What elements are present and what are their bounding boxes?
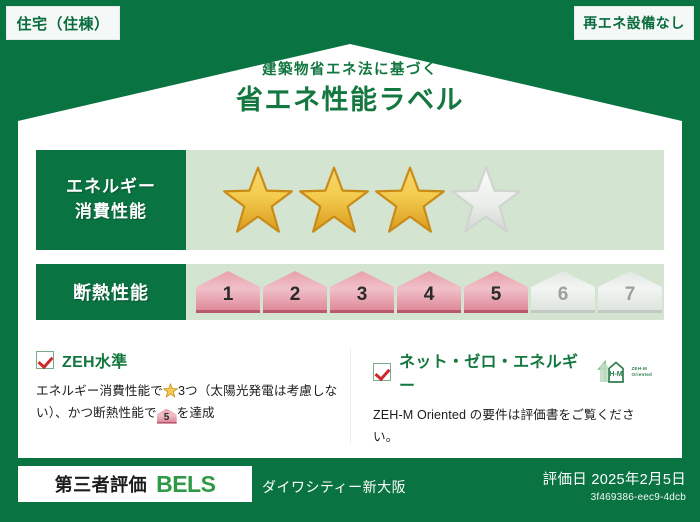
- energy-performance-label: 住宅（住棟） 再エネ設備なし 建築物省エネ法に基づく 省エネ性能ラベル エネルギ…: [0, 0, 700, 522]
- note-zeh-body: エネルギー消費性能で3つ（太陽光発電は考慮しない）、かつ断熱性能で5を達成: [36, 381, 338, 424]
- grade-house-5: 5: [464, 271, 528, 313]
- row-energy-label-line1: エネルギー: [66, 175, 156, 200]
- note-zeh-standard: ZEH水準 エネルギー消費性能で3つ（太陽光発電は考慮しない）、かつ断熱性能で5…: [36, 348, 350, 444]
- zeh-m-logo-text: H-M: [609, 371, 622, 378]
- note-nze-title: ネット・ゼロ・エネルギー: [399, 348, 584, 396]
- star-icon-filled-1: [222, 165, 294, 235]
- star-icon-empty-4: [450, 165, 522, 235]
- grade-house-6: 6: [531, 271, 595, 313]
- footer-date-value: 2025年2月5日: [591, 472, 686, 488]
- note-zeh-body-part1: エネルギー消費性能で: [36, 384, 163, 398]
- note-zeh-title: ZEH水準: [62, 348, 128, 372]
- note-zeh-body-part3: を達成: [177, 406, 215, 420]
- footer-project-name: ダイワシティー新大阪: [262, 477, 406, 497]
- footer-meta: 評価日 2025年2月5日 3f469386-eec9-4dcb: [543, 468, 686, 503]
- zeh-m-logo-caption: ZEH-M Oriented: [632, 366, 653, 377]
- grade-house-1: 1: [196, 271, 260, 313]
- label-subtitle: 建築物省エネ法に基づく: [0, 62, 700, 79]
- zeh-m-oriented-logo: H-M ZEH-M Oriented: [596, 360, 653, 384]
- footer-document-id: 3f469386-eec9-4dcb: [543, 492, 686, 503]
- star-rating: [186, 150, 664, 250]
- check-icon-net-zero: [373, 363, 391, 381]
- zeh-m-caption-line2: Oriented: [632, 372, 653, 377]
- zeh-m-caption-line1: ZEH-M: [632, 366, 648, 371]
- label-main-title: 省エネ性能ラベル: [0, 85, 700, 116]
- footer-date-label: 評価日: [543, 472, 587, 488]
- note-nze-header: ネット・ゼロ・エネルギー H-M ZEH-M Oriented: [373, 348, 652, 396]
- star-icon-inline: [163, 383, 178, 398]
- grade-house-3: 3: [330, 271, 394, 313]
- check-icon-zeh: [36, 351, 54, 369]
- footer-bels-logo: BELS: [156, 471, 215, 498]
- note-nze-body: ZEH-M Oriented の要件は評価書をご覧ください。: [373, 405, 652, 448]
- insulation-grade-scale: 1 2 3 4 5 6 7: [186, 264, 664, 320]
- row-energy-label: エネルギー 消費性能: [36, 150, 186, 250]
- grade-house-7: 7: [598, 271, 662, 313]
- badge-renewable-equipment: 再エネ設備なし: [574, 6, 694, 40]
- note-zeh-header: ZEH水準: [36, 348, 338, 372]
- footer-evaluation-date: 評価日 2025年2月5日: [543, 468, 686, 489]
- footer-evaluation-label: 第三者評価: [55, 471, 148, 497]
- notes-section: ZEH水準 エネルギー消費性能で3つ（太陽光発電は考慮しない）、かつ断熱性能で5…: [36, 348, 664, 444]
- footer-bels-plate: 第三者評価 BELS: [18, 466, 252, 502]
- grade-house-4: 4: [397, 271, 461, 313]
- row-insulation-performance: 断熱性能 1 2 3 4 5 6 7: [36, 264, 664, 320]
- grade-badge-inline: 5: [157, 409, 177, 424]
- badge-building-type: 住宅（住棟）: [6, 6, 120, 40]
- row-energy-label-line2: 消費性能: [75, 200, 147, 225]
- row-energy-performance: エネルギー 消費性能: [36, 150, 664, 250]
- note-net-zero-energy: ネット・ゼロ・エネルギー H-M ZEH-M Oriented ZEH-M Or…: [350, 348, 664, 444]
- star-icon-filled-3: [374, 165, 446, 235]
- grade-house-2: 2: [263, 271, 327, 313]
- title-block: 建築物省エネ法に基づく 省エネ性能ラベル: [0, 62, 700, 116]
- zeh-m-house-icon: H-M: [596, 360, 630, 384]
- star-icon-filled-2: [298, 165, 370, 235]
- row-insulation-label: 断熱性能: [36, 264, 186, 320]
